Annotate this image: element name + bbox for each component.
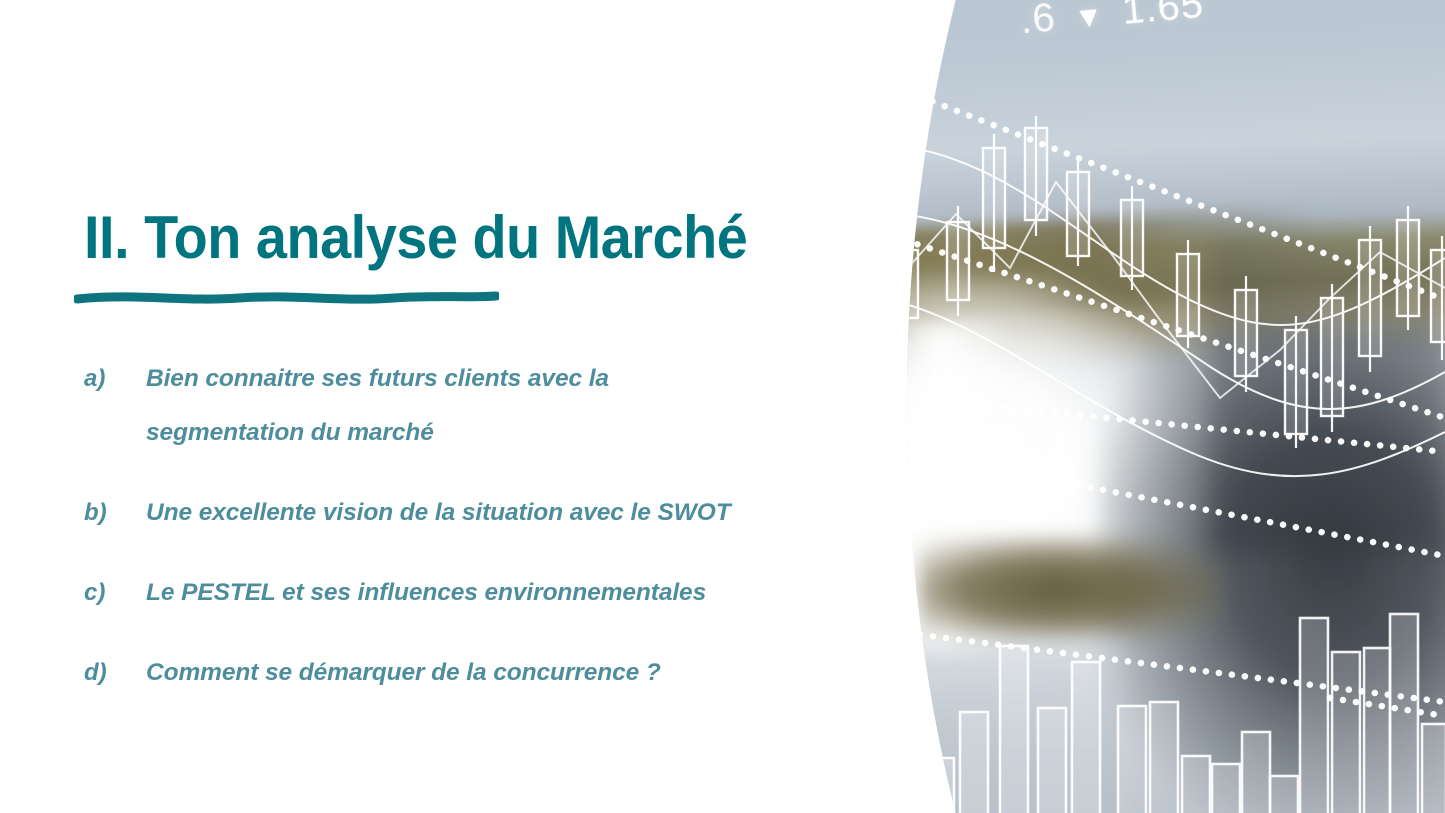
- dotted-trend-lines: [868, 92, 1445, 716]
- list-item: b) Une excellente vision de la situation…: [84, 486, 884, 540]
- list-item: d) Comment se démarquer de la concurrenc…: [84, 646, 884, 700]
- list-item-marker: b): [84, 486, 146, 540]
- list-item-label: Une excellente vision de la situation av…: [146, 486, 766, 540]
- list-item: c) Le PESTEL et ses influences environne…: [84, 566, 884, 620]
- list-item-label: Comment se démarquer de la concurrence ?: [146, 646, 766, 700]
- financial-chart-overlay: [860, 0, 1445, 813]
- list-item-marker: d): [84, 646, 146, 700]
- bullet-list: a) Bien connaitre ses futurs clients ave…: [84, 352, 884, 726]
- list-item-marker: c): [84, 566, 146, 620]
- triangle-down-icon: ▼: [1066, 0, 1112, 36]
- title-underline-stroke: [74, 285, 499, 309]
- list-item-label: Le PESTEL et ses influences environnemen…: [146, 566, 766, 620]
- decorative-image-panel: .6 ▼ 1.65: [860, 0, 1445, 813]
- image-arc-clip: .6 ▼ 1.65: [860, 0, 1445, 813]
- list-item: a) Bien connaitre ses futurs clients ave…: [84, 352, 884, 460]
- list-item-label: Bien connaitre ses futurs clients avec l…: [146, 352, 766, 460]
- presentation-slide: .6 ▼ 1.65 II. Ton analyse du Marché a) B…: [0, 0, 1445, 813]
- candlestick-series: [896, 116, 1445, 448]
- ticker-previous-value: .6: [1018, 0, 1057, 42]
- slide-content: II. Ton analyse du Marché a) Bien connai…: [0, 0, 900, 813]
- page-title: II. Ton analyse du Marché: [84, 206, 747, 269]
- list-item-marker: a): [84, 352, 146, 406]
